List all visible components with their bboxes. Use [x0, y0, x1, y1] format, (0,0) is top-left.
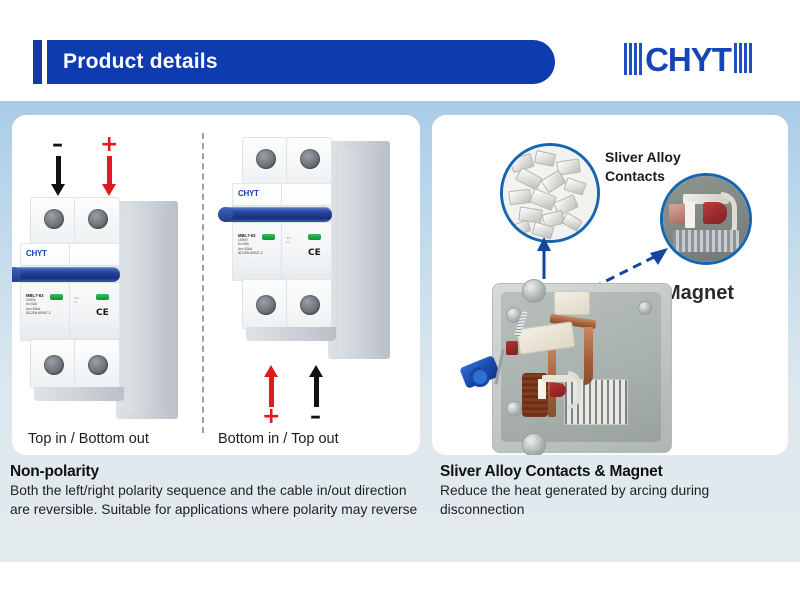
right-caption-body: Reduce the heat generated by arcing duri… [440, 482, 790, 519]
status-indicator-left [50, 294, 63, 300]
arrow-up-red-icon [266, 365, 276, 407]
magnet-inset [660, 173, 752, 265]
contacts-pointer-arrow-icon [532, 237, 556, 279]
product-spec-standard: IEC/EN 60947-2 [26, 311, 51, 315]
status-indicator-left [262, 234, 275, 240]
product-brand-label: CHYT [26, 249, 47, 258]
logo-right-stripes-icon [734, 43, 752, 75]
left-caption-title: Non-polarity [10, 462, 430, 482]
arrow-up-black-icon [311, 365, 321, 407]
minus-sign-icon: – [310, 409, 321, 424]
page-header: Product details CHYT [0, 0, 800, 101]
header-accent-bar [33, 40, 42, 84]
right-product-panel: Sliver Alloy Contacts Magnet [432, 115, 788, 455]
page-title: Product details [63, 49, 218, 75]
status-indicator-right [308, 234, 321, 240]
left-caption-body: Both the left/right polarity sequence an… [10, 482, 430, 519]
product-details-page: Product details CHYT – [0, 0, 800, 591]
ce-marking: CE [96, 309, 109, 318]
polarity-marker-bottom-negative: – [310, 365, 321, 424]
left-product-panel: – + CHYT [12, 115, 420, 455]
product-spec-standard: IEC/EN 60947-2 [238, 251, 263, 255]
status-indicator-right [96, 294, 109, 300]
caption-bottom-in-top-out: Bottom in / Top out [218, 431, 339, 447]
logo-text: CHYT [642, 43, 734, 76]
sliver-alloy-contacts-inset [500, 143, 600, 243]
magnet-label: Magnet [664, 282, 734, 304]
callout-line-1: Sliver Alloy [605, 148, 681, 167]
panel-divider [202, 133, 204, 433]
ce-marking: CE [308, 249, 321, 258]
plus-sign-icon: + [262, 409, 280, 424]
polarity-marker-top-positive: + [100, 137, 118, 198]
polarity-marker-top-negative: – [52, 137, 63, 198]
breaker-bottom-in-top-out: CHYT MBL7-63 1000V In=40A Icn=10kA IEC/E… [224, 137, 404, 367]
breaker-top-in-bottom-out: CHYT MBL7-63 1000V In=40A Icn=10kA IEC/E… [12, 197, 192, 427]
arrow-down-red-icon [104, 156, 114, 198]
plus-sign-icon: + [100, 137, 118, 152]
right-caption-block: Sliver Alloy Contacts & Magnet Reduce th… [440, 462, 790, 519]
right-caption-title: Sliver Alloy Contacts & Magnet [440, 462, 790, 482]
left-caption-block: Non-polarity Both the left/right polarit… [10, 462, 430, 519]
minus-sign-icon: – [52, 137, 63, 152]
cutaway-breaker-diagram [492, 283, 670, 451]
polarity-marker-bottom-positive: + [262, 365, 280, 424]
logo-left-stripes-icon [624, 43, 642, 75]
arrow-down-black-icon [53, 156, 63, 198]
brand-logo: CHYT [590, 30, 786, 88]
caption-top-in-bottom-out: Top in / Bottom out [28, 431, 149, 447]
product-brand-label: CHYT [238, 189, 259, 198]
